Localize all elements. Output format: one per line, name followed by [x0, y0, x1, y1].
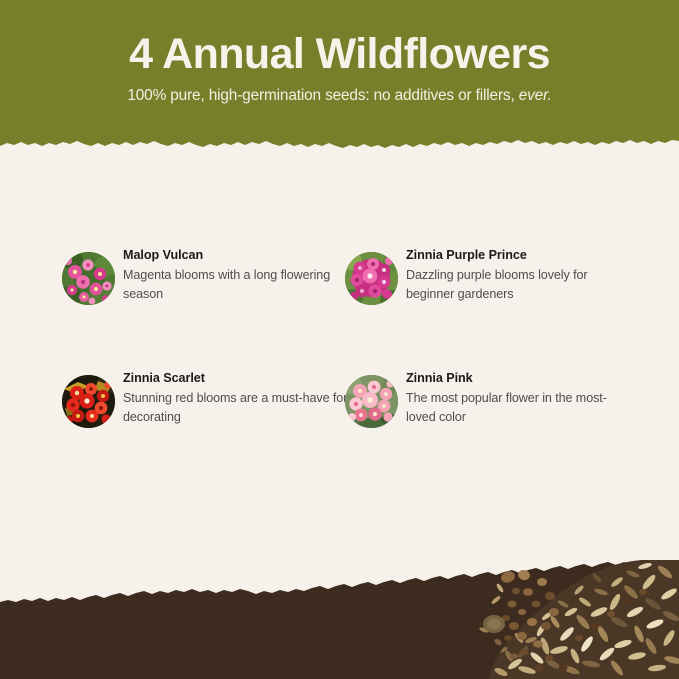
malop-vulcan-thumbnail	[62, 252, 115, 305]
flower-description: The most popular flower in the most-love…	[406, 389, 631, 427]
header-text-block: 4 Annual Wildflowers 100% pure, high-ger…	[0, 0, 679, 140]
list-item: Zinnia Scarlet Stunning red blooms are a…	[62, 371, 352, 463]
page-subtitle: 100% pure, high-germination seeds: no ad…	[0, 87, 679, 105]
flower-text: Malop Vulcan Magenta blooms with a long …	[123, 248, 348, 304]
flower-description: Dazzling purple blooms lovely for beginn…	[406, 266, 631, 304]
page-subtitle-emphasis: ever.	[519, 87, 552, 104]
flower-text: Zinnia Pink The most popular flower in t…	[406, 371, 631, 427]
flower-text: Zinnia Purple Prince Dazzling purple blo…	[406, 248, 631, 304]
scattered-seed-group	[462, 560, 662, 679]
flower-list: Malop Vulcan Magenta blooms with a long …	[0, 243, 679, 458]
flower-description: Magenta blooms with a long flowering sea…	[123, 266, 348, 304]
flower-description: Stunning red blooms are a must-have for …	[123, 389, 348, 427]
zinnia-scarlet-thumbnail	[62, 375, 115, 428]
list-item: Zinnia Purple Prince Dazzling purple blo…	[345, 248, 635, 340]
flower-name: Zinnia Pink	[406, 371, 631, 387]
zinnia-pink-thumbnail	[345, 375, 398, 428]
list-item: Malop Vulcan Magenta blooms with a long …	[62, 248, 352, 340]
flower-text: Zinnia Scarlet Stunning red blooms are a…	[123, 371, 348, 427]
list-item: Zinnia Pink The most popular flower in t…	[345, 371, 635, 463]
page-title: 4 Annual Wildflowers	[0, 32, 679, 77]
flower-name: Zinnia Scarlet	[123, 371, 348, 387]
product-infographic: 4 Annual Wildflowers 100% pure, high-ger…	[0, 0, 679, 679]
zinnia-purple-prince-thumbnail	[345, 252, 398, 305]
flower-name: Malop Vulcan	[123, 248, 348, 264]
soil-band	[0, 560, 679, 679]
header-banner: 4 Annual Wildflowers 100% pure, high-ger…	[0, 0, 679, 152]
page-subtitle-main: 100% pure, high-germination seeds: no ad…	[127, 87, 518, 104]
flower-name: Zinnia Purple Prince	[406, 248, 631, 264]
